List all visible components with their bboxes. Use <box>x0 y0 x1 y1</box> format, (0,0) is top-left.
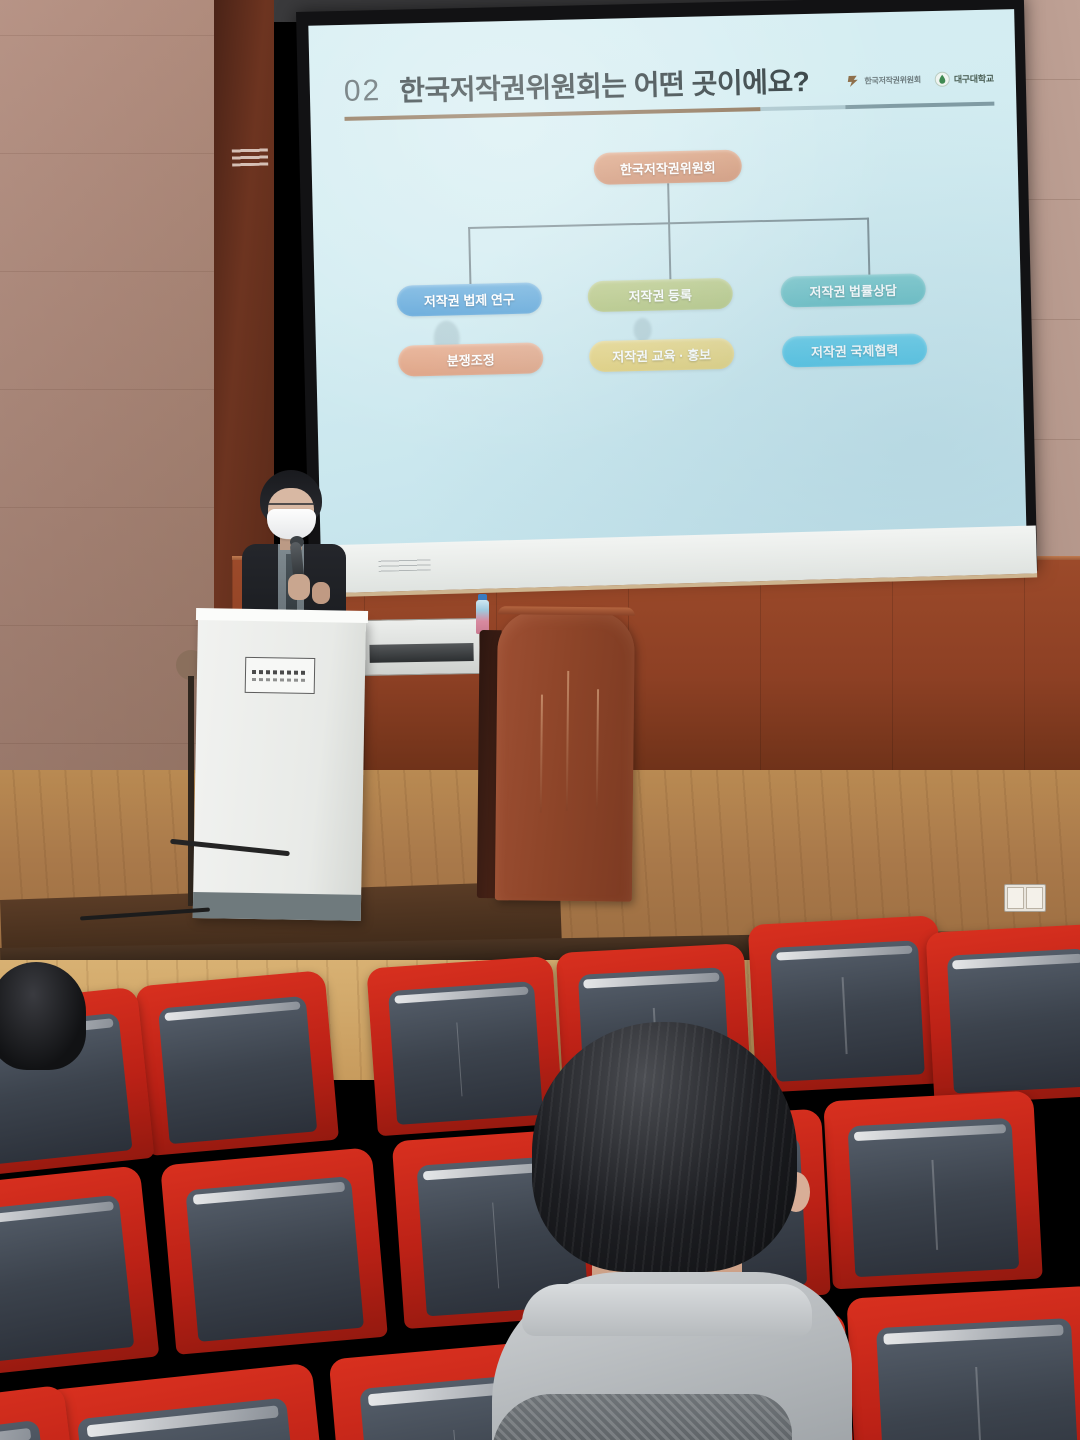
projector-screen: 02 한국저작권위원회는 어떤 곳이에요? 한국저작권위원회 <box>296 0 1037 588</box>
wall-marking <box>232 148 268 167</box>
diagram-root-node: 한국저작권위원회 <box>593 150 742 185</box>
lectern-top-lip <box>498 606 635 615</box>
dgu-logo-label: 대구대학교 <box>954 72 994 86</box>
seat-pad <box>947 948 1080 1093</box>
rule-segment <box>344 107 760 121</box>
kcc-logo: 한국저작권위원회 <box>845 72 921 89</box>
kcc-logo-label: 한국저작권위원회 <box>864 74 921 86</box>
slide-surface: 02 한국저작권위원회는 어떤 곳이에요? 한국저작권위원회 <box>308 9 1027 565</box>
diagram-node: 저작권 법제 연구 <box>396 282 542 316</box>
presenter <box>236 470 356 630</box>
hoodie-hood-fold <box>522 1284 812 1336</box>
podium-top <box>196 608 368 623</box>
face-mask <box>267 509 316 539</box>
org-diagram: 한국저작권위원회 저작권 법제 연구 저작권 등록 저작권 법률상담 분쟁조정 … <box>311 119 1025 466</box>
seat <box>846 1286 1080 1440</box>
connector-drop <box>867 218 870 276</box>
slide-title: 한국저작권위원회는 어떤 곳이에요? <box>399 68 810 108</box>
seat <box>926 923 1080 1104</box>
slide-section-number: 02 <box>344 76 382 109</box>
sign-text-line <box>252 677 308 681</box>
diagram-node: 저작권 국제협력 <box>782 333 928 367</box>
audience-head-partial <box>0 962 86 1070</box>
white-podium <box>193 616 366 921</box>
connector-drop <box>668 222 671 280</box>
sign-text-line <box>252 669 308 674</box>
presenter-hand <box>288 574 310 600</box>
wooden-lectern <box>477 598 635 902</box>
rule-segment <box>845 102 995 110</box>
seat <box>160 1147 388 1355</box>
diagram-node: 분쟁조정 <box>398 342 544 376</box>
lectern-front-panel <box>495 610 635 901</box>
kcc-logo-icon <box>845 74 860 89</box>
av-rack-slot <box>369 643 473 663</box>
dgu-logo-icon <box>935 72 950 87</box>
knit-garment <box>492 1394 792 1440</box>
av-equipment-rack <box>362 618 481 676</box>
connector-vertical <box>667 183 669 223</box>
whiteboard-writing <box>378 558 430 571</box>
diagram-row-2: 분쟁조정 저작권 교육 · 홍보 저작권 국제협력 <box>311 119 1017 136</box>
connector-drop <box>468 227 471 285</box>
presenter-hand <box>312 582 330 604</box>
auditorium-scene: 02 한국저작권위원회는 어떤 곳이에요? 한국저작권위원회 <box>0 0 1080 1440</box>
student-hair <box>532 1022 797 1272</box>
seat <box>0 1165 159 1379</box>
diagram-node: 저작권 교육 · 홍보 <box>589 338 735 372</box>
logo-group: 한국저작권위원회 대구대학교 <box>845 71 994 97</box>
rule-segment <box>760 105 845 111</box>
slide-header: 02 한국저작권위원회는 어떤 곳이에요? 한국저작권위원회 <box>343 36 994 109</box>
diagram-node: 저작권 등록 <box>587 278 733 312</box>
diagram-node: 저작권 법률상담 <box>780 273 926 307</box>
seat <box>45 1363 336 1440</box>
podium-sign <box>245 657 316 694</box>
foreground-audience-member <box>492 1022 852 1440</box>
diagram-row-1: 저작권 법제 연구 저작권 등록 저작권 법률상담 <box>311 119 1017 136</box>
seat <box>823 1091 1043 1290</box>
dgu-logo: 대구대학교 <box>935 71 994 87</box>
seat <box>135 970 339 1156</box>
